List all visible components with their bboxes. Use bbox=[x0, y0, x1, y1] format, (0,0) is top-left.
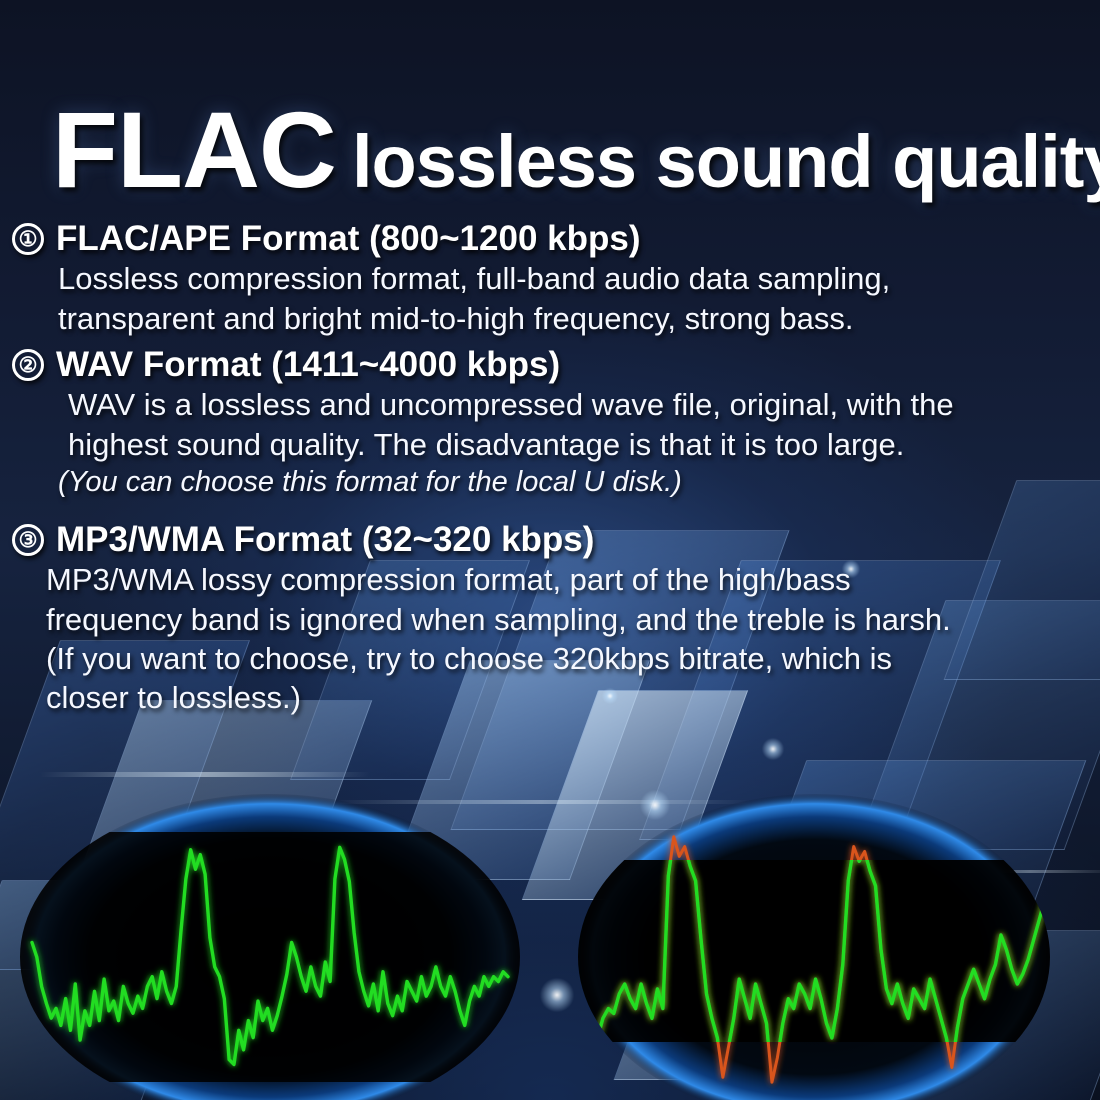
title-tagline: lossless sound quality bbox=[352, 120, 1100, 203]
item-heading-row: ① FLAC/APE Format (800~1200 kbps) bbox=[0, 218, 1100, 259]
lossy-waveform-scope bbox=[578, 792, 1064, 1100]
bg-glint bbox=[762, 738, 784, 760]
item-note-2: (You can choose this format for the loca… bbox=[58, 464, 1100, 501]
item-body-1: Lossless compression format, full-band a… bbox=[0, 259, 1100, 338]
list-item: ② WAV Format (1411~4000 kbps) WAV is a l… bbox=[0, 344, 1100, 501]
body-line: closer to lossless.) bbox=[46, 678, 1100, 717]
body-line: highest sound quality. The disadvantage … bbox=[58, 425, 1100, 464]
item-body-3: MP3/WMA lossy compression format, part o… bbox=[0, 560, 1100, 717]
list-item: ① FLAC/APE Format (800~1200 kbps) Lossle… bbox=[0, 218, 1100, 338]
body-line: Lossless compression format, full-band a… bbox=[58, 259, 1100, 298]
item-heading-3: MP3/WMA Format (32~320 kbps) bbox=[56, 519, 594, 560]
page-title: FLAClossless sound quality bbox=[52, 96, 1100, 204]
item-heading-1: FLAC/APE Format (800~1200 kbps) bbox=[56, 218, 641, 259]
lossless-waveform-scope bbox=[14, 792, 526, 1100]
title-flac: FLAC bbox=[52, 89, 336, 210]
poster-root: FLAClossless sound quality ① FLAC/APE Fo… bbox=[0, 0, 1100, 1100]
body-line: transparent and bright mid-to-high frequ… bbox=[58, 299, 1100, 338]
bg-light-streak bbox=[39, 772, 371, 777]
bg-glint bbox=[540, 978, 574, 1012]
list-marker-1: ① bbox=[12, 223, 44, 255]
body-line: WAV is a lossless and uncompressed wave … bbox=[58, 385, 1100, 424]
body-line: MP3/WMA lossy compression format, part o… bbox=[46, 560, 1100, 599]
item-heading-2: WAV Format (1411~4000 kbps) bbox=[56, 344, 560, 385]
left-scope-svg bbox=[14, 792, 526, 1100]
item-heading-row: ② WAV Format (1411~4000 kbps) bbox=[0, 344, 1100, 385]
list-marker-3: ③ bbox=[12, 524, 44, 556]
format-list: ① FLAC/APE Format (800~1200 kbps) Lossle… bbox=[0, 218, 1100, 718]
list-marker-2: ② bbox=[12, 349, 44, 381]
scope-screen bbox=[14, 832, 526, 1082]
right-scope-svg bbox=[578, 792, 1064, 1100]
item-heading-row: ③ MP3/WMA Format (32~320 kbps) bbox=[0, 519, 1100, 560]
body-line: (If you want to choose, try to choose 32… bbox=[46, 639, 1100, 678]
item-body-2: WAV is a lossless and uncompressed wave … bbox=[0, 385, 1100, 501]
body-line: frequency band is ignored when sampling,… bbox=[46, 600, 1100, 639]
list-item: ③ MP3/WMA Format (32~320 kbps) MP3/WMA l… bbox=[0, 519, 1100, 718]
